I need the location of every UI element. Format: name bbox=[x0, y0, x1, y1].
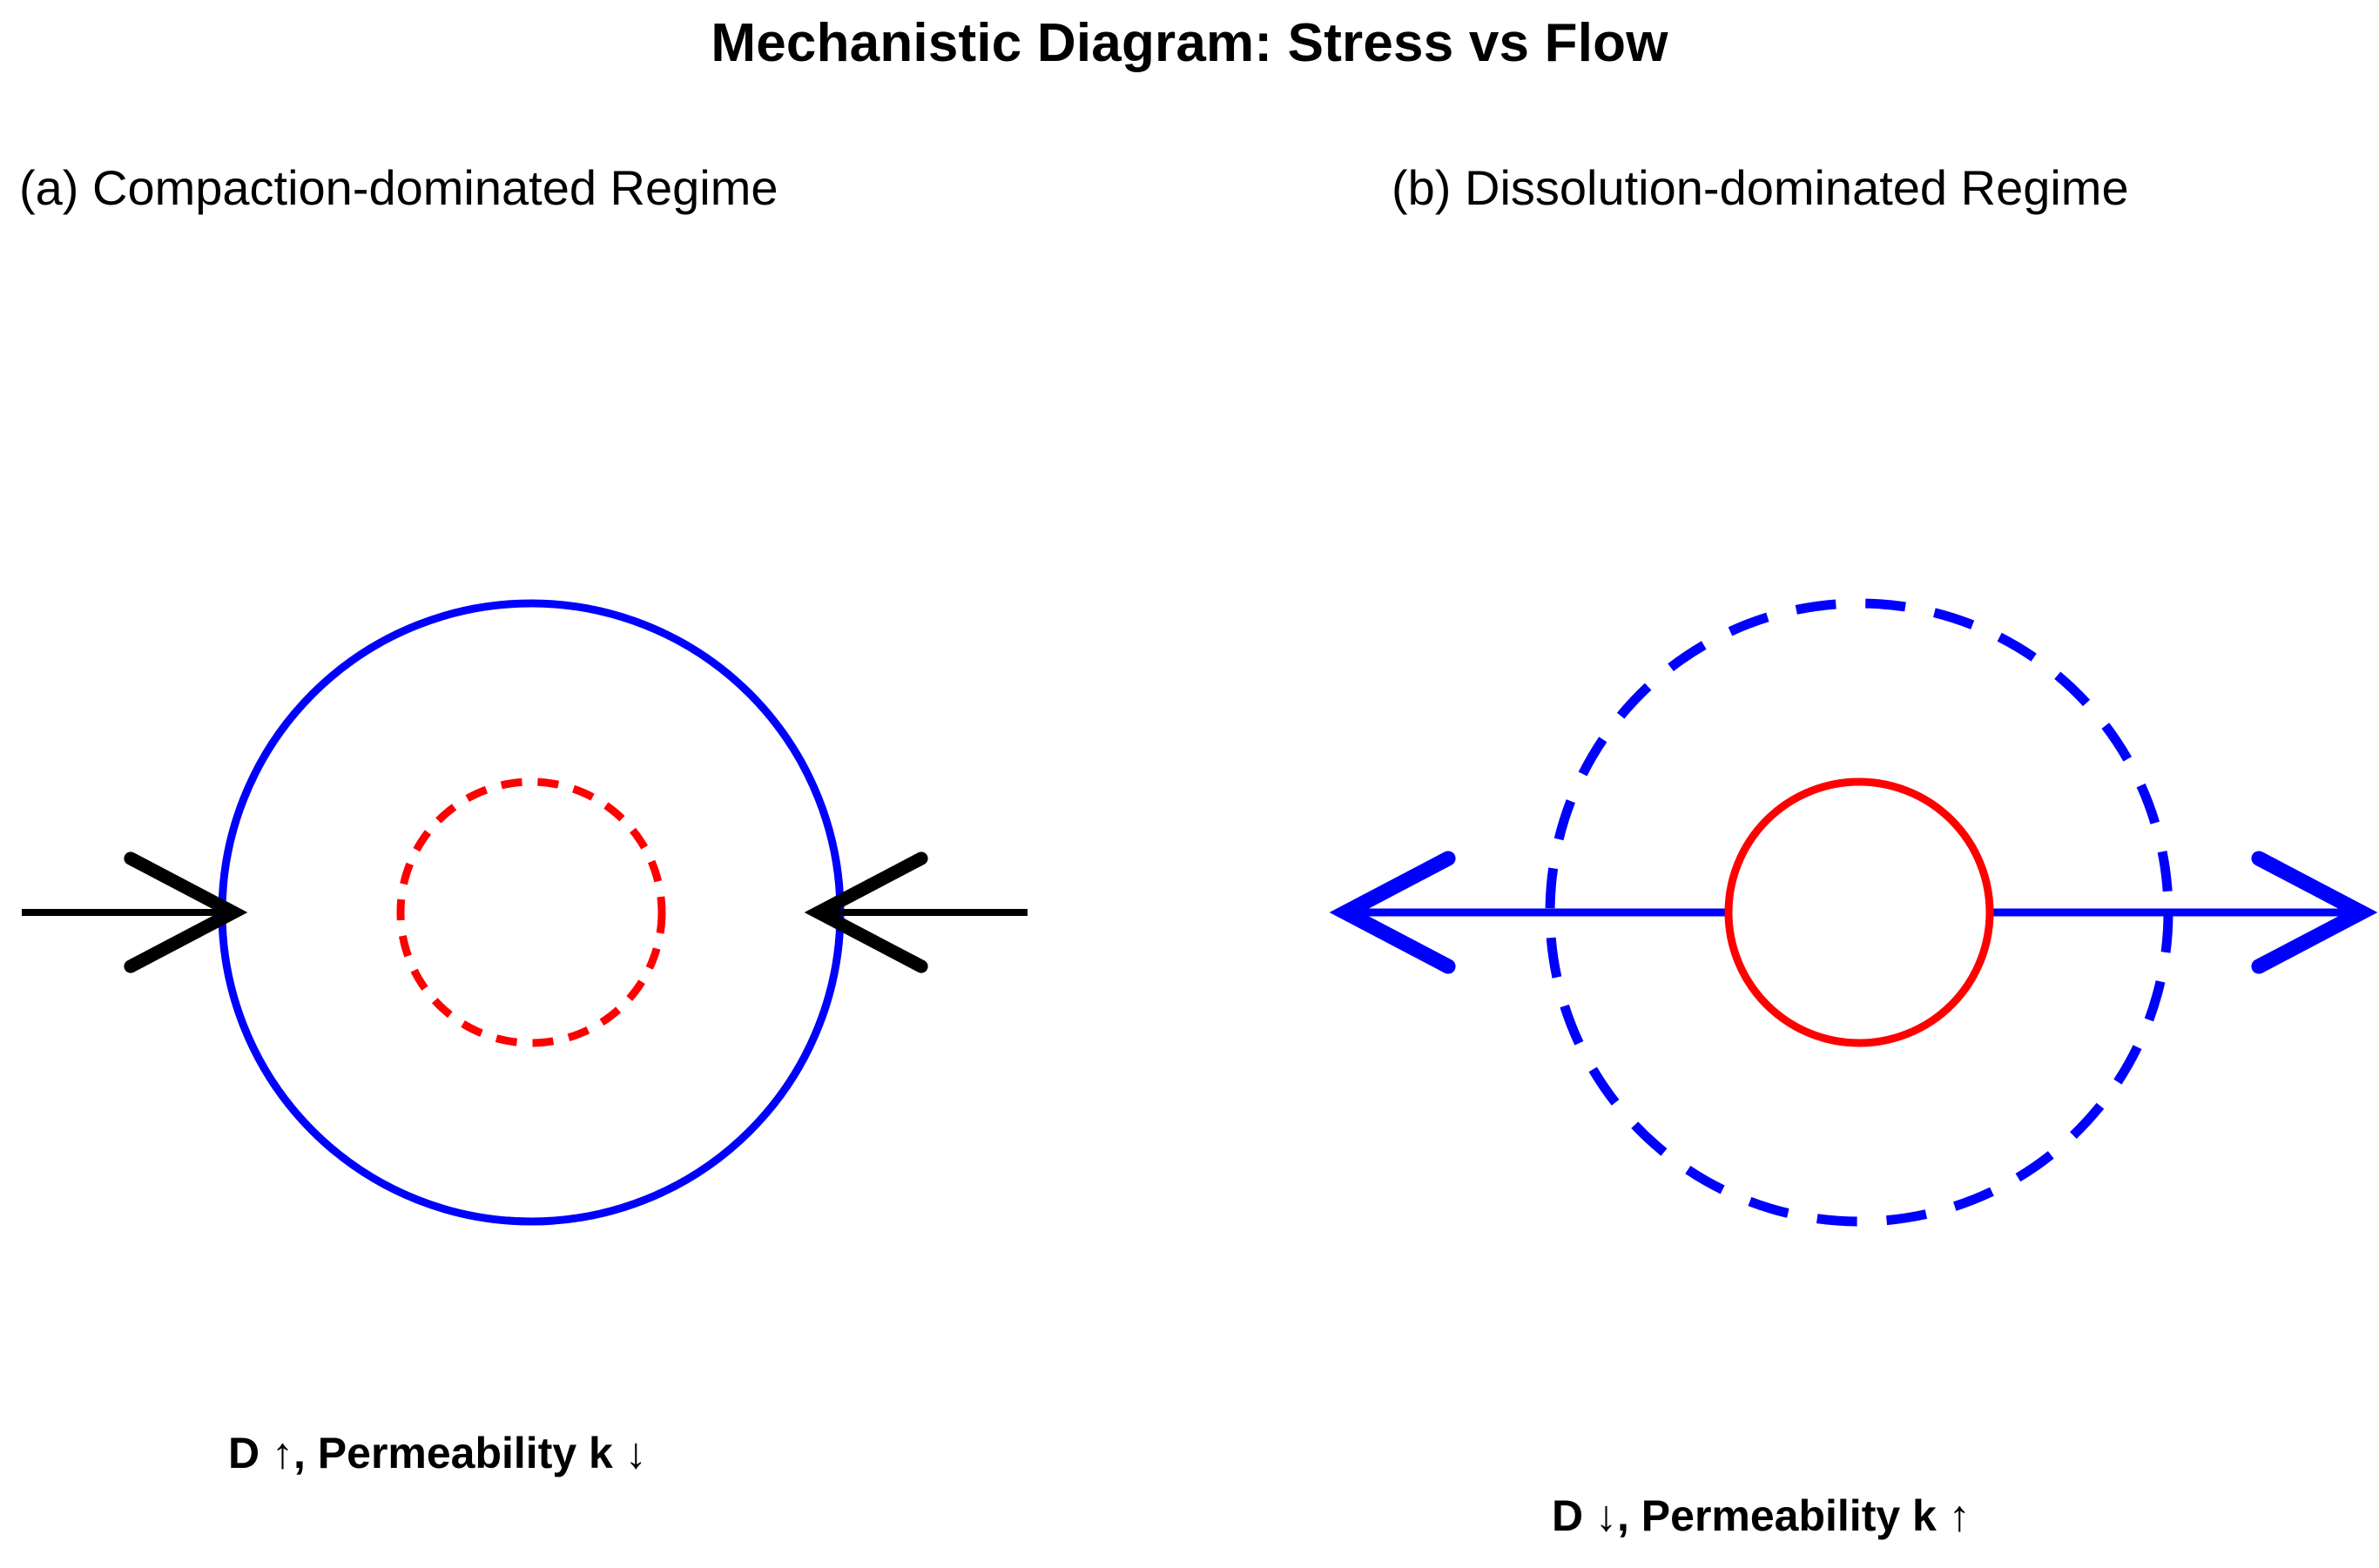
panel-b-heading: (b) Dissolution-dominated Regime bbox=[1392, 159, 2129, 216]
panel-a-inner-circle bbox=[401, 782, 662, 1043]
panel-b-caption: D ↓, Permeability k ↑ bbox=[1552, 1491, 1971, 1541]
panel-b-inner-circle bbox=[1729, 782, 1990, 1043]
panel-b-drawing bbox=[0, 0, 2379, 1568]
panel-a-stress-arrow-left bbox=[22, 858, 233, 966]
panel-b-flow-arrow-left bbox=[1345, 858, 1729, 966]
mechanistic-diagram-figure: Mechanistic Diagram: Stress vs Flow (a) … bbox=[0, 0, 2379, 1568]
panel-b-outer-circle bbox=[1550, 603, 2168, 1221]
panel-a-outer-circle bbox=[222, 603, 840, 1221]
panel-a-caption: D ↑, Permeability k ↓ bbox=[228, 1428, 647, 1478]
panel-a-stress-arrow-right bbox=[819, 858, 1028, 966]
panel-a-drawing bbox=[0, 0, 2379, 1568]
figure-title: Mechanistic Diagram: Stress vs Flow bbox=[0, 12, 2379, 74]
panel-b-flow-arrow-right bbox=[1990, 858, 2362, 966]
panel-a-heading: (a) Compaction-dominated Regime bbox=[19, 159, 778, 216]
